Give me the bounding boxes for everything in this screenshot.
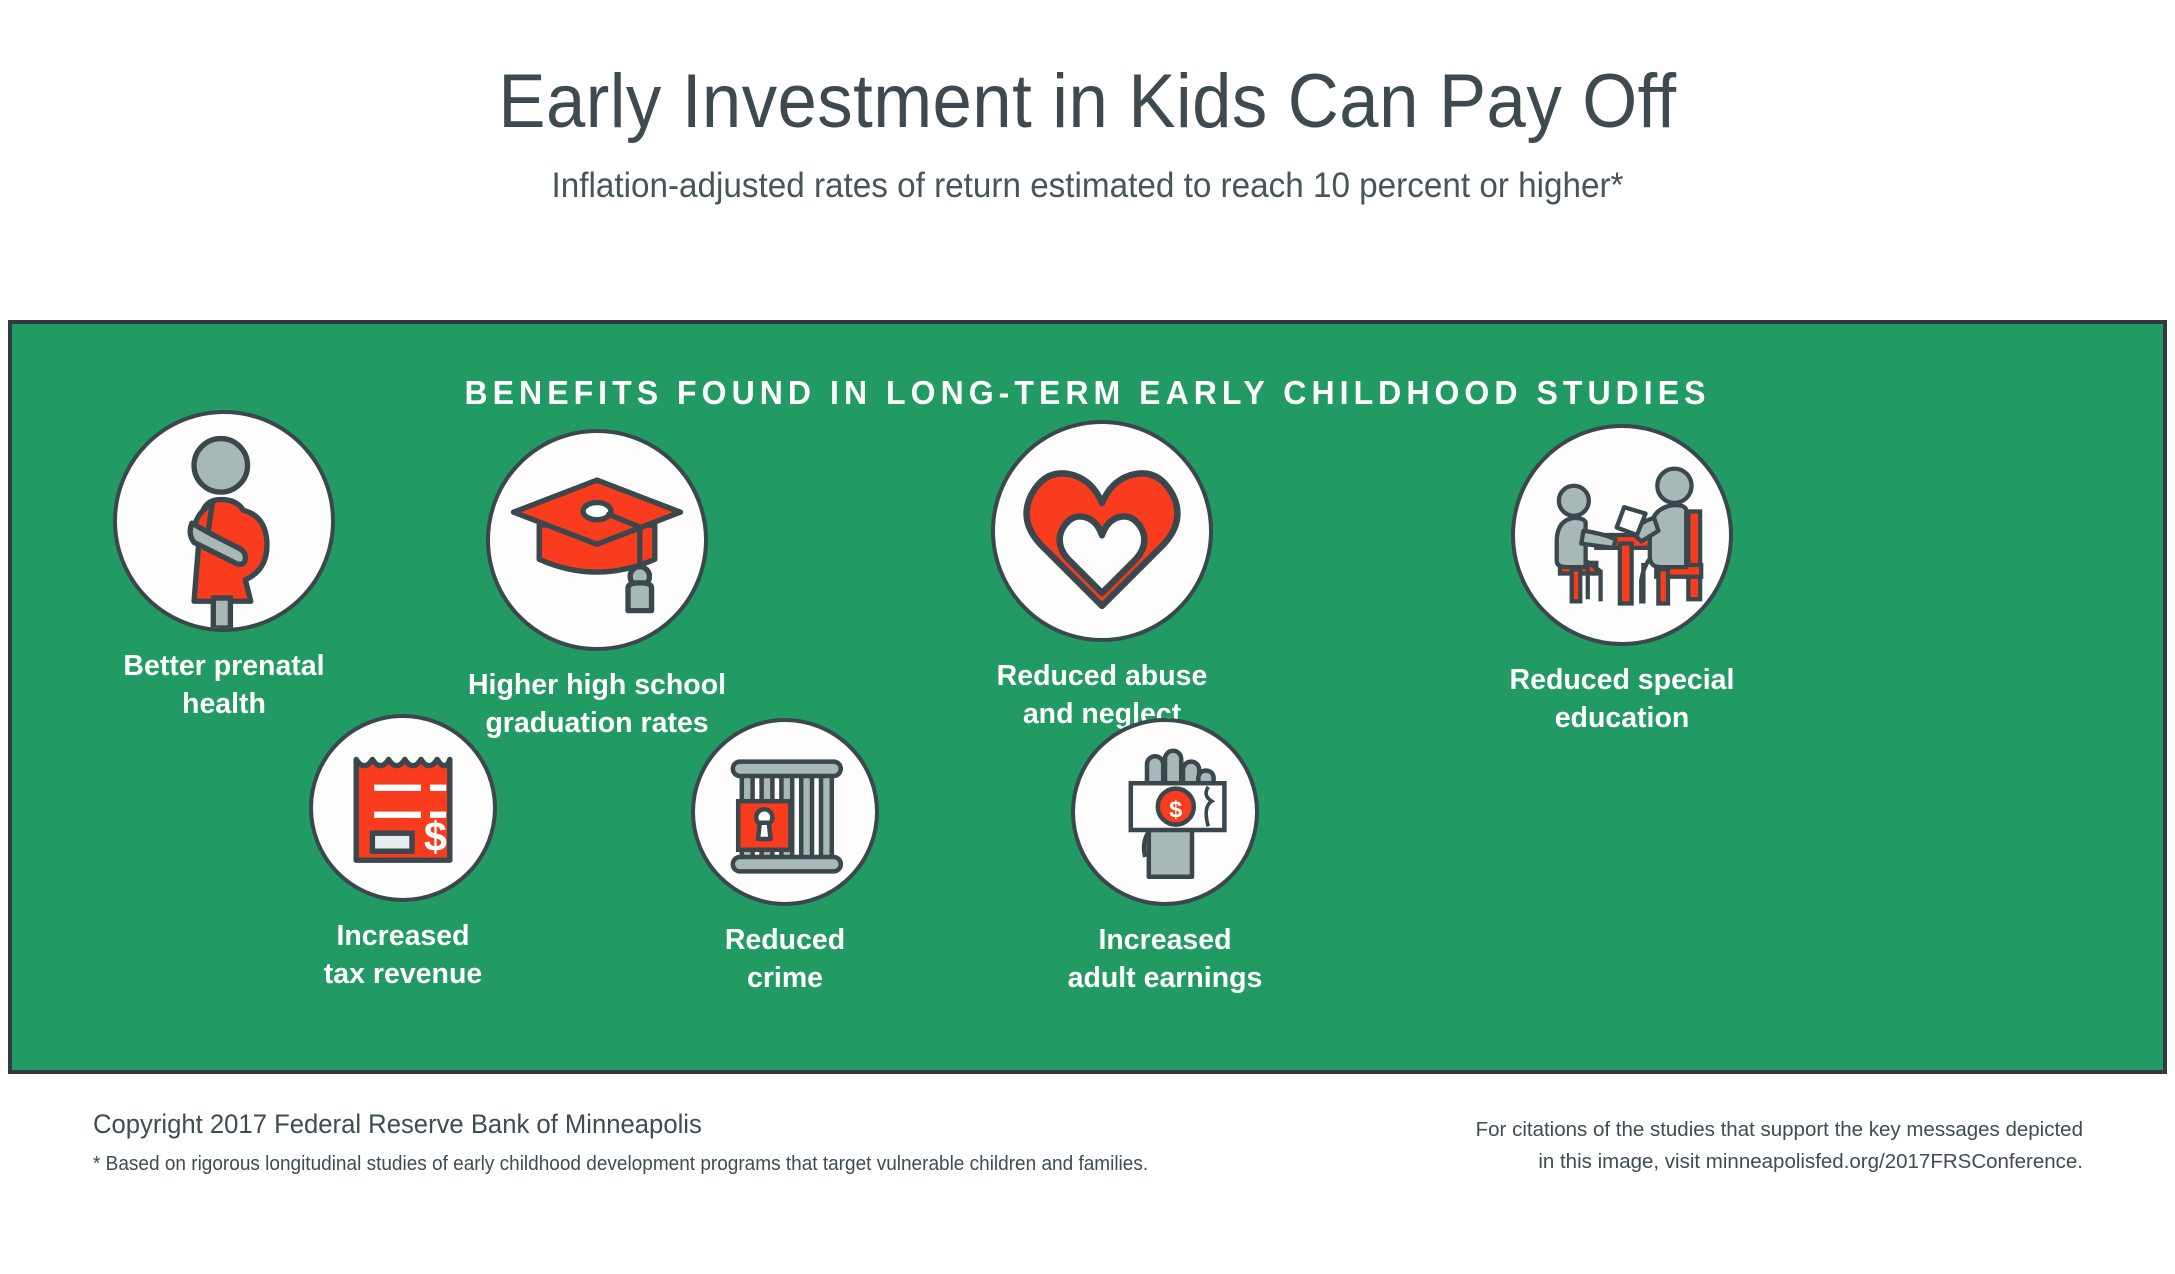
hand-holding-money-icon: $ bbox=[1071, 718, 1259, 906]
heart-icon bbox=[991, 420, 1213, 642]
page-subtitle: Inflation-adjusted rates of return estim… bbox=[54, 168, 2120, 203]
svg-text:$: $ bbox=[424, 814, 447, 860]
two-people-at-table-icon bbox=[1511, 424, 1733, 646]
jail-bars-lock-icon bbox=[691, 718, 879, 906]
benefit-label: Reduced crime bbox=[620, 922, 950, 997]
footer-left-block: Copyright 2017 Federal Reserve Bank of M… bbox=[93, 1108, 1204, 1176]
page-footer: Copyright 2017 Federal Reserve Bank of M… bbox=[0, 1108, 2175, 1228]
citation-line-1: For citations of the studies that suppor… bbox=[1476, 1114, 2083, 1146]
benefit-item-adult-earnings: $ Increased adult earnings bbox=[1000, 718, 1330, 997]
citation-line-2: in this image, visit minneapolisfed.org/… bbox=[1476, 1146, 2083, 1178]
benefit-label: Increased tax revenue bbox=[238, 918, 568, 993]
page-header: Early Investment in Kids Can Pay Off Inf… bbox=[0, 0, 2175, 203]
copyright-text: Copyright 2017 Federal Reserve Bank of M… bbox=[93, 1108, 1148, 1140]
benefit-item-special-education: Reduced special education bbox=[1457, 424, 1787, 737]
benefits-panel: BENEFITS FOUND IN LONG-TERM EARLY CHILDH… bbox=[8, 320, 2167, 1074]
svg-text:$: $ bbox=[1169, 796, 1182, 822]
pregnant-woman-icon bbox=[113, 410, 335, 632]
benefit-item-tax-revenue: $ Increased tax revenue bbox=[238, 714, 568, 993]
benefit-item-abuse: Reduced abuse and neglect bbox=[937, 420, 1267, 733]
page-title: Early Investment in Kids Can Pay Off bbox=[76, 64, 2099, 140]
benefit-item-graduation: Higher high school graduation rates bbox=[432, 429, 762, 742]
benefit-item-crime: Reduced crime bbox=[620, 718, 950, 997]
benefit-label: Increased adult earnings bbox=[1000, 922, 1330, 997]
disclaimer-text: * Based on rigorous longitudinal studies… bbox=[93, 1152, 1148, 1176]
benefit-label: Better prenatal health bbox=[59, 648, 389, 723]
footer-right-block: For citations of the studies that suppor… bbox=[1476, 1114, 2083, 1178]
benefit-item-prenatal: Better prenatal health bbox=[59, 410, 389, 723]
benefit-label: Reduced special education bbox=[1457, 662, 1787, 737]
panel-heading: BENEFITS FOUND IN LONG-TERM EARLY CHILDH… bbox=[44, 374, 2130, 412]
graduation-cap-icon bbox=[486, 429, 708, 651]
receipt-dollar-icon: $ bbox=[309, 714, 497, 902]
